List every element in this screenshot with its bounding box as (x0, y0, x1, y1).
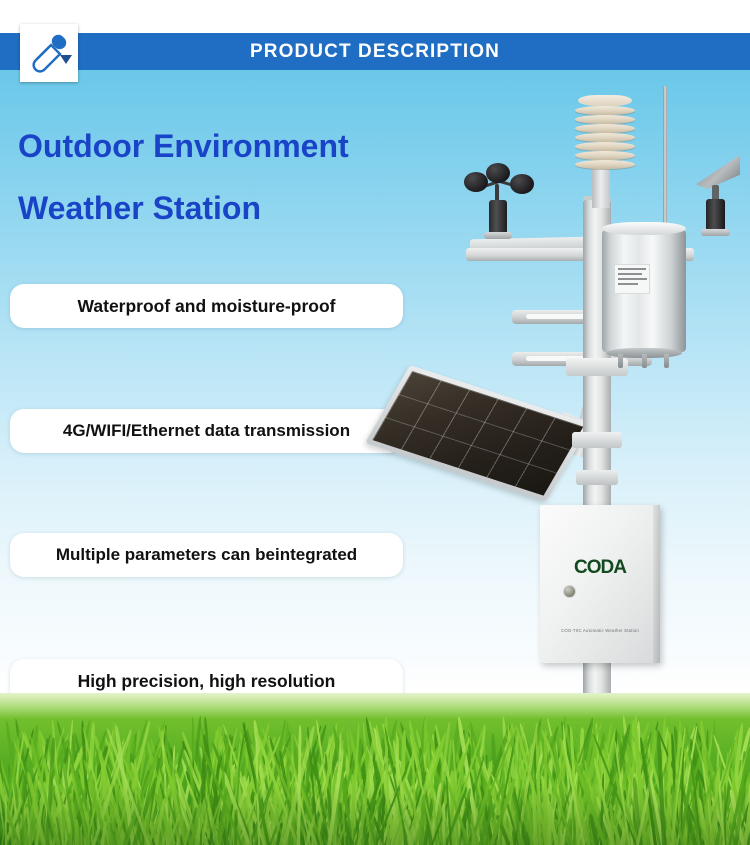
page-title-line-1: Outdoor Environment (18, 128, 349, 164)
feature-pill-data-transmission: 4G/WIFI/Ethernet data transmission (10, 409, 403, 453)
feature-label: High precision, high resolution (10, 671, 403, 692)
eyedropper-icon (20, 24, 78, 82)
feature-pill-multiple-parameters: Multiple parameters can beintegrated (10, 533, 403, 577)
banner-title: PRODUCT DESCRIPTION (0, 33, 750, 70)
feature-label: Multiple parameters can beintegrated (10, 545, 403, 565)
top-white-strip (0, 0, 750, 33)
grass-field (0, 693, 750, 845)
product-description-page: PRODUCT DESCRIPTION Outdoor Environment … (0, 0, 750, 845)
feature-pill-waterproof: Waterproof and moisture-proof (10, 284, 403, 328)
feature-label: Waterproof and moisture-proof (10, 296, 403, 317)
feature-label: 4G/WIFI/Ethernet data transmission (10, 421, 403, 441)
page-title: Outdoor Environment Weather Station (18, 115, 448, 239)
eyedropper-tool-chip[interactable] (20, 24, 78, 82)
page-title-line-2: Weather Station (18, 177, 448, 239)
chevron-down-icon (60, 55, 72, 64)
